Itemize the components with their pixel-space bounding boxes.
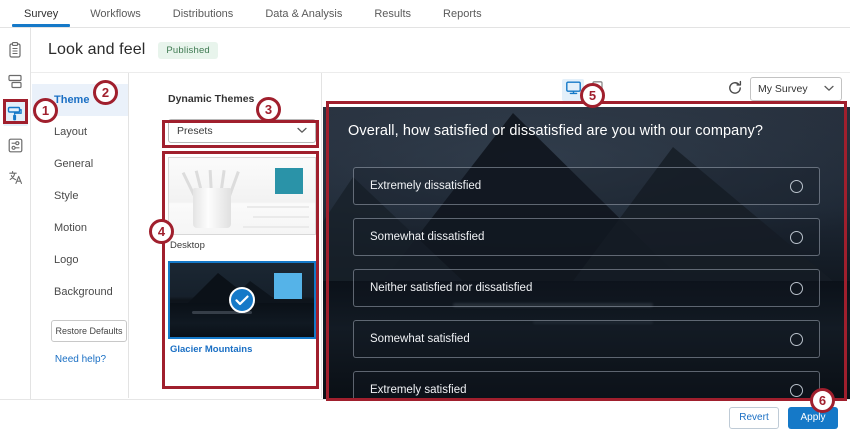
radio-button-icon[interactable] bbox=[790, 333, 803, 346]
rail-item-blocks[interactable] bbox=[3, 69, 28, 94]
survey-choice-label: Neither satisfied nor dissatisfied bbox=[370, 282, 532, 294]
chevron-down-icon bbox=[824, 83, 834, 95]
survey-choice-label: Somewhat satisfied bbox=[370, 333, 470, 345]
rail-item-clipboard[interactable] bbox=[3, 37, 28, 62]
theme-thumbnail-desktop-label: Desktop bbox=[168, 235, 316, 251]
theme-nav-item-layout[interactable]: Layout bbox=[32, 116, 128, 148]
restore-defaults-button[interactable]: Restore Defaults bbox=[51, 320, 127, 342]
apply-button[interactable]: Apply bbox=[788, 407, 838, 429]
survey-choice-label: Somewhat dissatisfied bbox=[370, 231, 484, 243]
presets-dropdown[interactable]: Presets bbox=[168, 119, 316, 143]
theme-nav-label-logo: Logo bbox=[54, 254, 78, 266]
survey-choice-option[interactable]: Extremely dissatisfied bbox=[353, 167, 820, 205]
device-mobile-button[interactable] bbox=[586, 79, 608, 101]
survey-selector-dropdown[interactable]: My Survey bbox=[750, 77, 842, 101]
survey-choice-list: Extremely dissatisfied Somewhat dissatis… bbox=[353, 167, 820, 399]
desktop-monitor-icon bbox=[566, 81, 581, 100]
tab-reports[interactable]: Reports bbox=[427, 0, 498, 27]
survey-choice-label: Extremely dissatisfied bbox=[370, 180, 481, 192]
theme-nav-label-general: General bbox=[54, 158, 93, 170]
paint-roller-icon bbox=[7, 106, 23, 122]
theme-nav-label-motion: Motion bbox=[54, 222, 87, 234]
device-desktop-button[interactable] bbox=[562, 79, 584, 101]
theme-nav-item-motion[interactable]: Motion bbox=[32, 212, 128, 244]
dynamic-themes-title: Dynamic Themes bbox=[130, 93, 321, 105]
survey-preview-canvas: Overall, how satisfied or dissatisfied a… bbox=[323, 107, 850, 399]
refresh-icon bbox=[727, 80, 743, 101]
rail-item-options[interactable] bbox=[3, 133, 28, 158]
selected-check-icon bbox=[229, 287, 255, 313]
translate-icon bbox=[8, 170, 23, 185]
footer-action-bar: Revert Apply bbox=[323, 399, 850, 435]
cup-decoration bbox=[193, 188, 231, 228]
survey-question-text: Overall, how satisfied or dissatisfied a… bbox=[348, 123, 825, 139]
chevron-down-icon bbox=[297, 125, 307, 137]
radio-button-icon[interactable] bbox=[790, 384, 803, 397]
theme-nav-item-logo[interactable]: Logo bbox=[32, 244, 128, 276]
tab-data-analysis-label: Data & Analysis bbox=[265, 8, 342, 20]
theme-nav-item-style[interactable]: Style bbox=[32, 180, 128, 212]
tab-results-label: Results bbox=[374, 8, 411, 20]
survey-choice-option[interactable]: Neither satisfied nor dissatisfied bbox=[353, 269, 820, 307]
tab-reports-label: Reports bbox=[443, 8, 482, 20]
mobile-device-icon bbox=[592, 81, 603, 100]
refresh-preview-button[interactable] bbox=[725, 80, 745, 100]
page-header: Look and feel Published bbox=[31, 28, 850, 73]
survey-choice-label: Extremely satisfied bbox=[370, 384, 467, 396]
theme-nav-label-background: Background bbox=[54, 286, 113, 298]
preview-toolbar: My Survey bbox=[323, 73, 850, 107]
blocks-icon bbox=[8, 74, 23, 89]
theme-thumbnail-desktop[interactable]: Desktop bbox=[168, 157, 316, 251]
survey-choice-option[interactable]: Extremely satisfied bbox=[353, 371, 820, 399]
desktop-theme-color-swatch bbox=[275, 168, 303, 194]
radio-button-icon[interactable] bbox=[790, 231, 803, 244]
survey-choice-option[interactable]: Somewhat dissatisfied bbox=[353, 218, 820, 256]
revert-button[interactable]: Revert bbox=[729, 407, 779, 429]
tab-workflows[interactable]: Workflows bbox=[74, 0, 157, 27]
glacier-theme-color-swatch bbox=[274, 273, 302, 299]
theme-thumbnail-glacier-label: Glacier Mountains bbox=[168, 339, 316, 355]
theme-nav-item-background[interactable]: Background bbox=[32, 276, 128, 308]
theme-nav-panel: Theme Layout General Style Motion Logo B… bbox=[32, 73, 129, 398]
theme-nav-label-style: Style bbox=[54, 190, 78, 202]
theme-thumbnail-desktop-image bbox=[168, 157, 316, 235]
tab-survey[interactable]: Survey bbox=[8, 0, 74, 27]
theme-nav-item-general[interactable]: General bbox=[32, 148, 128, 180]
survey-selector-value: My Survey bbox=[758, 83, 808, 95]
need-help-link[interactable]: Need help? bbox=[32, 354, 129, 365]
status-badge: Published bbox=[158, 42, 218, 59]
tab-distributions[interactable]: Distributions bbox=[157, 0, 250, 27]
clipboard-icon bbox=[8, 42, 22, 58]
app-root: Survey Workflows Distributions Data & An… bbox=[0, 0, 850, 435]
rail-item-look-and-feel[interactable] bbox=[3, 101, 28, 126]
tab-results[interactable]: Results bbox=[358, 0, 427, 27]
tab-distributions-label: Distributions bbox=[173, 8, 234, 20]
theme-thumbnail-glacier-mountains[interactable]: Glacier Mountains bbox=[168, 261, 316, 355]
rail-item-translations[interactable] bbox=[3, 165, 28, 190]
radio-button-icon[interactable] bbox=[790, 282, 803, 295]
survey-choice-option[interactable]: Somewhat satisfied bbox=[353, 320, 820, 358]
device-preview-toggle bbox=[562, 79, 608, 101]
top-tab-bar: Survey Workflows Distributions Data & An… bbox=[0, 0, 850, 28]
tab-workflows-label: Workflows bbox=[90, 8, 141, 20]
theme-nav-label-theme: Theme bbox=[54, 94, 89, 106]
theme-nav-item-theme[interactable]: Theme bbox=[32, 84, 128, 116]
theme-thumbnail-list: Desktop Glacier Mountains bbox=[168, 157, 316, 355]
presets-dropdown-value: Presets bbox=[177, 125, 213, 137]
sliders-icon bbox=[8, 138, 23, 153]
left-icon-rail bbox=[0, 28, 31, 435]
page-title: Look and feel bbox=[48, 41, 145, 59]
radio-button-icon[interactable] bbox=[790, 180, 803, 193]
dynamic-themes-panel: Dynamic Themes Presets bbox=[130, 73, 322, 398]
theme-thumbnail-glacier-image bbox=[168, 261, 316, 339]
tab-data-analysis[interactable]: Data & Analysis bbox=[249, 0, 358, 27]
footer-left-spacer bbox=[0, 399, 323, 435]
tab-survey-label: Survey bbox=[24, 8, 58, 20]
theme-nav-label-layout: Layout bbox=[54, 126, 87, 138]
